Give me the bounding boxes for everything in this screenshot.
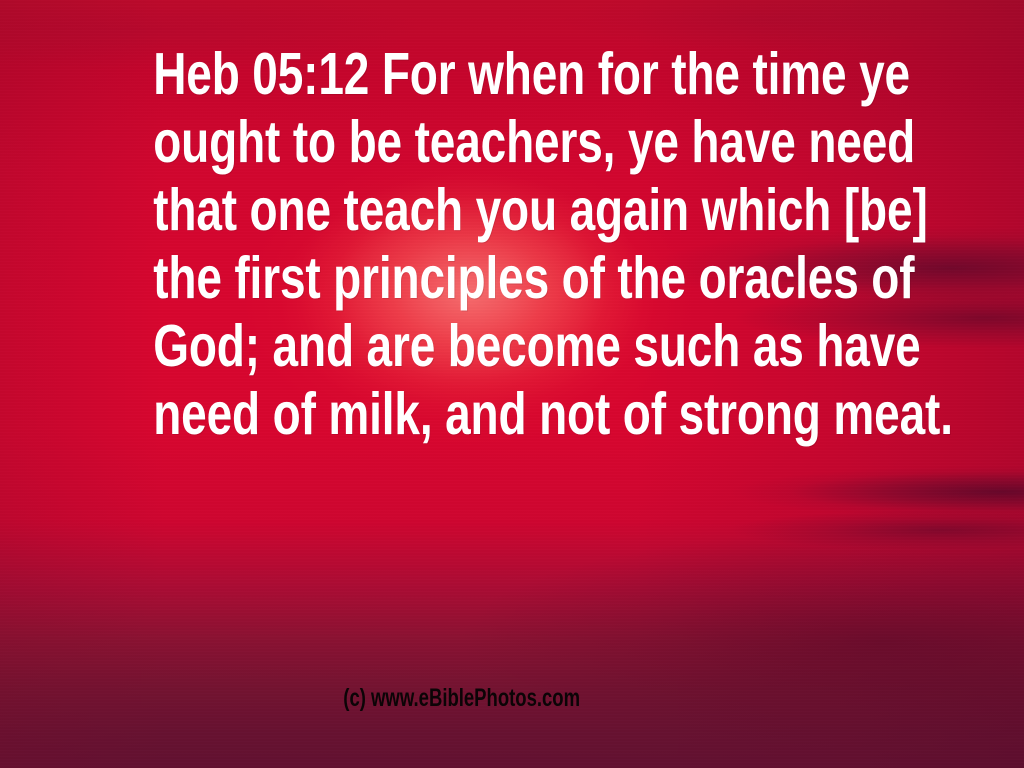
verse-line: need of milk, and not of strong meat. [153, 380, 871, 448]
verse-line: God; and are become such as have [153, 312, 871, 380]
verse-image: Heb 05:12 For when for the time ye ought… [0, 0, 1024, 768]
verse-line: that one teach you again which [be] [153, 176, 871, 244]
verse-text-block: Heb 05:12 For when for the time ye ought… [153, 40, 871, 448]
verse-line: Heb 05:12 For when for the time ye [153, 40, 871, 108]
copyright-credit-text: (c) www.eBiblePhotos.com [343, 686, 580, 711]
copyright-credit: (c) www.eBiblePhotos.com [133, 686, 891, 711]
verse-line: the first principles of the oracles of [153, 244, 871, 312]
verse-line: ought to be teachers, ye have need [153, 108, 871, 176]
